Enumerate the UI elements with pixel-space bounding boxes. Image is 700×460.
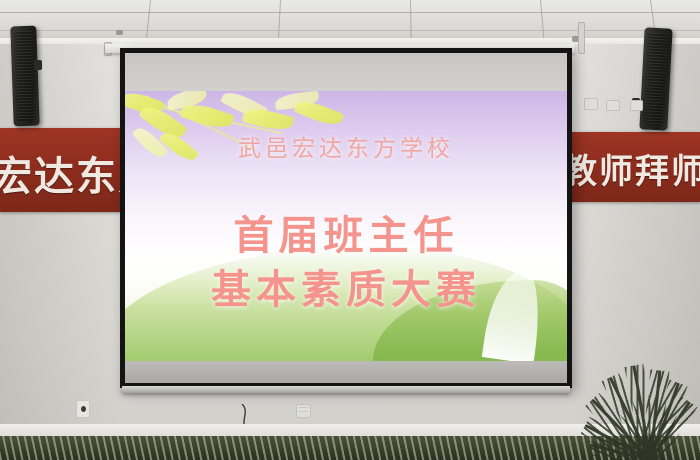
right-column-speaker	[639, 27, 672, 130]
banner-left: 宏达东方	[0, 128, 122, 212]
speaker-grille	[13, 31, 36, 122]
wall-outlet-left	[76, 400, 90, 418]
banner-right-text: 教师拜师	[567, 144, 700, 193]
screen-weight-bar	[122, 386, 570, 393]
ceiling-bracket-left	[116, 30, 123, 35]
speaker-mount-left	[34, 60, 42, 70]
wall-conduit-right	[578, 22, 585, 54]
speaker-grille	[643, 32, 670, 125]
projection-screen-surface: 武邑宏达东方学校 首届班主任 基本素质大赛	[125, 53, 567, 383]
wall-plate-lower-right	[296, 404, 311, 418]
projection-screen-frame: 武邑宏达东方学校 首届班主任 基本素质大赛	[120, 48, 572, 388]
left-column-speaker	[10, 26, 39, 127]
wall-plate-a	[584, 98, 598, 110]
slide-title-line-1: 首届班主任	[125, 203, 567, 261]
slide-title-line-2: 基本素质大赛	[125, 257, 567, 315]
wall-plate-b	[606, 100, 620, 111]
presentation-slide: 武邑宏达东方学校 首届班主任 基本素质大赛	[125, 91, 567, 361]
leaf-8	[294, 97, 344, 130]
banner-right: 教师拜师	[567, 132, 700, 202]
ceiling	[0, 0, 700, 42]
screen-blank-strip	[125, 53, 567, 93]
banner-left-text: 宏达东方	[0, 144, 122, 202]
room-photo: 宏达东方 教师拜师	[0, 0, 700, 460]
wall-plate-c	[630, 100, 643, 111]
screen-bottom-bar	[125, 361, 567, 383]
slide-school-name: 武邑宏达东方学校	[125, 129, 567, 163]
potted-palm-plant	[591, 320, 700, 460]
